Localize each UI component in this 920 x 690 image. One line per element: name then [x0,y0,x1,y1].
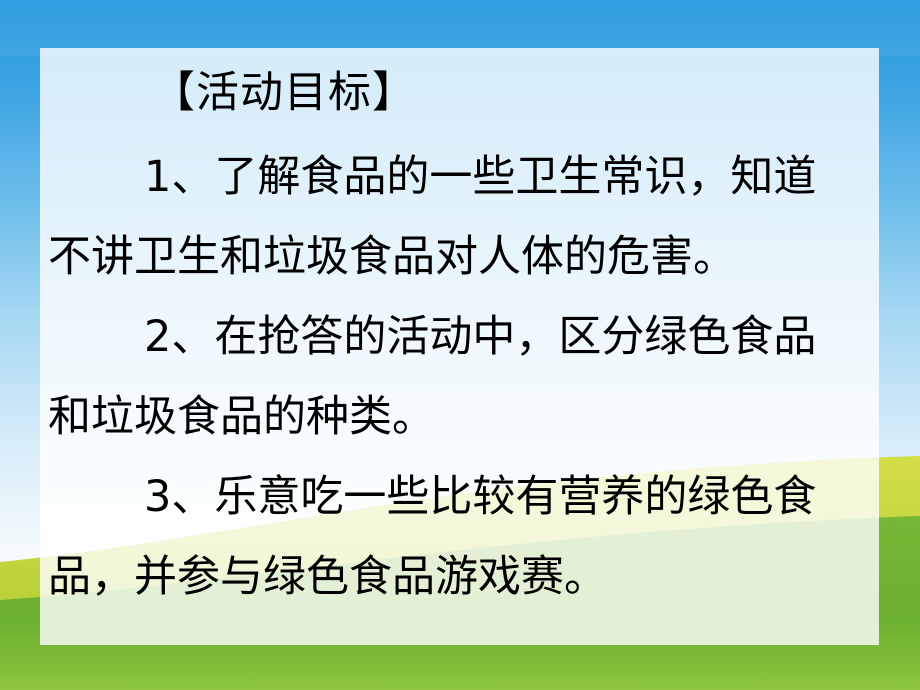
content-panel-inner: 【活动目标】 1、了解食品的一些卫生常识，知道 不讲卫生和垃圾食品对人体的危害。… [48,72,871,651]
objective-3-line-1: 3、乐意吃一些比较有营养的绿色食 [48,457,871,537]
objectives-list: 1、了解食品的一些卫生常识，知道 不讲卫生和垃圾食品对人体的危害。 2、在抢答的… [48,137,871,617]
objective-2-line-1: 2、在抢答的活动中，区分绿色食品 [48,297,871,377]
objective-3-line-2: 品，并参与绿色食品游戏赛。 [48,537,871,617]
objective-1-line-1: 1、了解食品的一些卫生常识，知道 [48,137,871,217]
page-title: 【活动目标】 [48,72,871,115]
objective-1-line-2: 不讲卫生和垃圾食品对人体的危害。 [48,217,871,297]
content-panel: 【活动目标】 1、了解食品的一些卫生常识，知道 不讲卫生和垃圾食品对人体的危害。… [40,48,879,645]
presentation-slide: 【活动目标】 1、了解食品的一些卫生常识，知道 不讲卫生和垃圾食品对人体的危害。… [0,0,920,690]
objective-2-line-2: 和垃圾食品的种类。 [48,377,871,457]
